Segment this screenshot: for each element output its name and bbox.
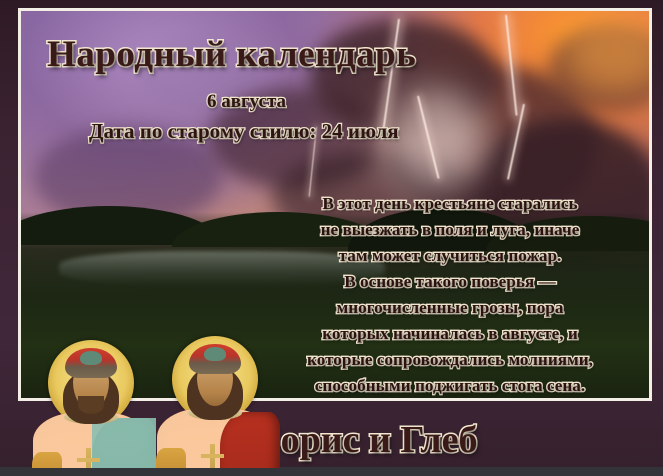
saints-figures <box>26 302 288 468</box>
folk-calendar-card: Народный календарь 6 августа Дата по ста… <box>0 0 663 476</box>
sleeve-shape <box>156 448 186 468</box>
description-line: многочисленные грозы, пора <box>259 295 641 321</box>
date-old-style: Дата по старому стилю: 24 июля <box>21 119 649 144</box>
saint-boris-figure <box>30 340 152 468</box>
page-title: Народный календарь <box>47 33 416 76</box>
bottom-strip <box>0 467 663 476</box>
description-text: В этот день крестьяне старались не выезж… <box>259 191 641 398</box>
description-line: которые сопровождались молниями, <box>259 347 641 373</box>
saints-illustration <box>14 200 294 468</box>
crown-icon <box>189 344 241 374</box>
cross-icon <box>86 448 91 468</box>
cross-icon <box>210 444 215 468</box>
sleeve-shape <box>32 452 62 468</box>
description-line: которых начиналась в августе, и <box>259 321 641 347</box>
cloak-shape <box>220 412 280 468</box>
crown-icon <box>65 348 117 378</box>
saint-gleb-figure <box>154 336 276 468</box>
description-line: не выезжать в поля и луга, иначе <box>259 217 641 243</box>
cloak-shape <box>92 418 156 468</box>
date-new-style: 6 августа <box>21 91 649 113</box>
description-line: способными поджигать стога сена. <box>259 373 641 398</box>
description-line: там может случиться пожар. <box>259 243 641 269</box>
beard-shape <box>78 396 104 414</box>
description-line: В основе такого поверья — <box>259 269 641 295</box>
description-line: В этот день крестьяне старались <box>259 191 641 217</box>
